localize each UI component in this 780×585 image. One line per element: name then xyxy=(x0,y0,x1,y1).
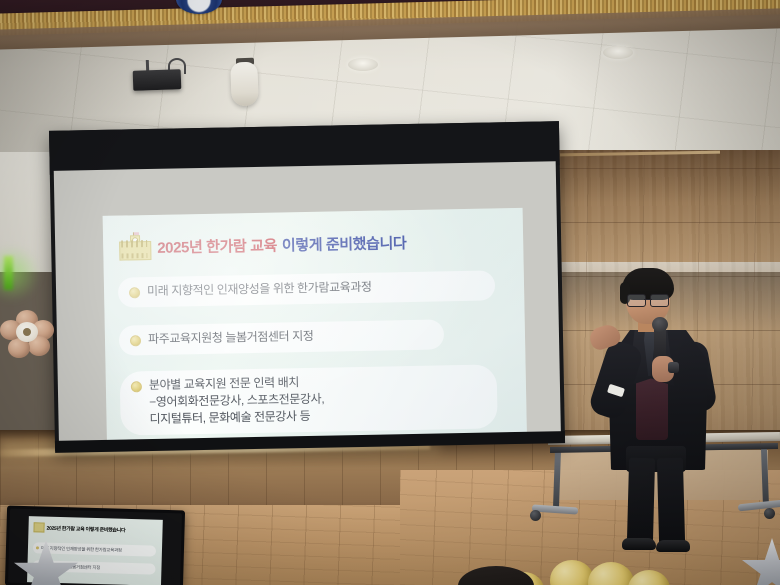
screen-surface: 2025년 한가람 교육 이렇게 준비했습니다 미래 지향적인 인재양성을 위한… xyxy=(54,161,561,443)
school-building-icon xyxy=(33,522,44,532)
table-caster xyxy=(530,510,541,521)
bullet-dot-icon xyxy=(131,381,142,392)
balloon-flower-center xyxy=(16,322,38,342)
slide-title-row: 2025년 한가람 교육 이렇게 준비했습니다 xyxy=(119,224,514,264)
presentation-slide: 2025년 한가람 교육 이렇게 준비했습니다 미래 지향적인 인재양성을 위한… xyxy=(103,208,527,448)
slide-title-red: 2025년 한가람 교육 xyxy=(157,234,277,257)
bullet-dot-icon xyxy=(129,287,140,298)
ceiling-projector-icon xyxy=(133,69,182,91)
photo-scene: 2 명회 xyxy=(0,0,780,585)
presenter-leg-left xyxy=(627,458,655,545)
table-leg-left xyxy=(553,448,561,510)
green-accent-light xyxy=(4,256,13,290)
slide-bullet-text: 미래 지향적인 인재양성을 위한 한가람교육과정 xyxy=(147,279,372,300)
balloon-flower-decor xyxy=(2,310,60,358)
monitor-title: 2025년 한가람 교육 이렇게 준비했습니다 xyxy=(33,522,125,535)
presenter xyxy=(592,270,724,560)
downlight-icon xyxy=(603,46,633,59)
slide-title: 2025년 한가람 교육 이렇게 준비했습니다 xyxy=(157,232,406,258)
school-building-icon xyxy=(119,234,149,261)
slide-bullet-text: 분야별 교육지원 전문 인력 배치 −영어회화전문강사, 스포츠전문강사, 디지… xyxy=(149,374,325,428)
glasses-icon xyxy=(627,294,669,305)
slide-bullet: 분야별 교육지원 전문 인력 배치 −영어회화전문강사, 스포츠전문강사, 디지… xyxy=(120,364,498,435)
slide-title-blue: 이렇게 준비했습니다 xyxy=(282,232,407,255)
ceiling-speaker-icon xyxy=(230,62,259,107)
bullet-dot-icon xyxy=(130,335,141,346)
presenter-leg-right xyxy=(657,458,685,545)
projection-screen: 2025년 한가람 교육 이렇게 준비했습니다 미래 지향적인 인재양성을 위한… xyxy=(49,121,565,451)
downlight-icon xyxy=(348,58,378,71)
presenter-shoe-right xyxy=(656,540,690,552)
slide-bullet: 미래 지향적인 인재양성을 위한 한가람교육과정 xyxy=(118,270,496,307)
presenter-shoe-left xyxy=(622,538,656,550)
wristwatch-icon xyxy=(668,362,679,373)
slide-bullet-text: 파주교육지원청 늘봄거점센터 지정 xyxy=(148,328,314,348)
slide-bullet: 파주교육지원청 늘봄거점센터 지정 xyxy=(119,319,445,355)
monitor-title-text: 2025년 한가람 교육 이렇게 준비했습니다 xyxy=(46,524,125,533)
table-caster xyxy=(764,508,775,519)
monitor-bullet: 미래 지향적인 인재양성을 위한 한가람교육과정 xyxy=(33,542,156,556)
